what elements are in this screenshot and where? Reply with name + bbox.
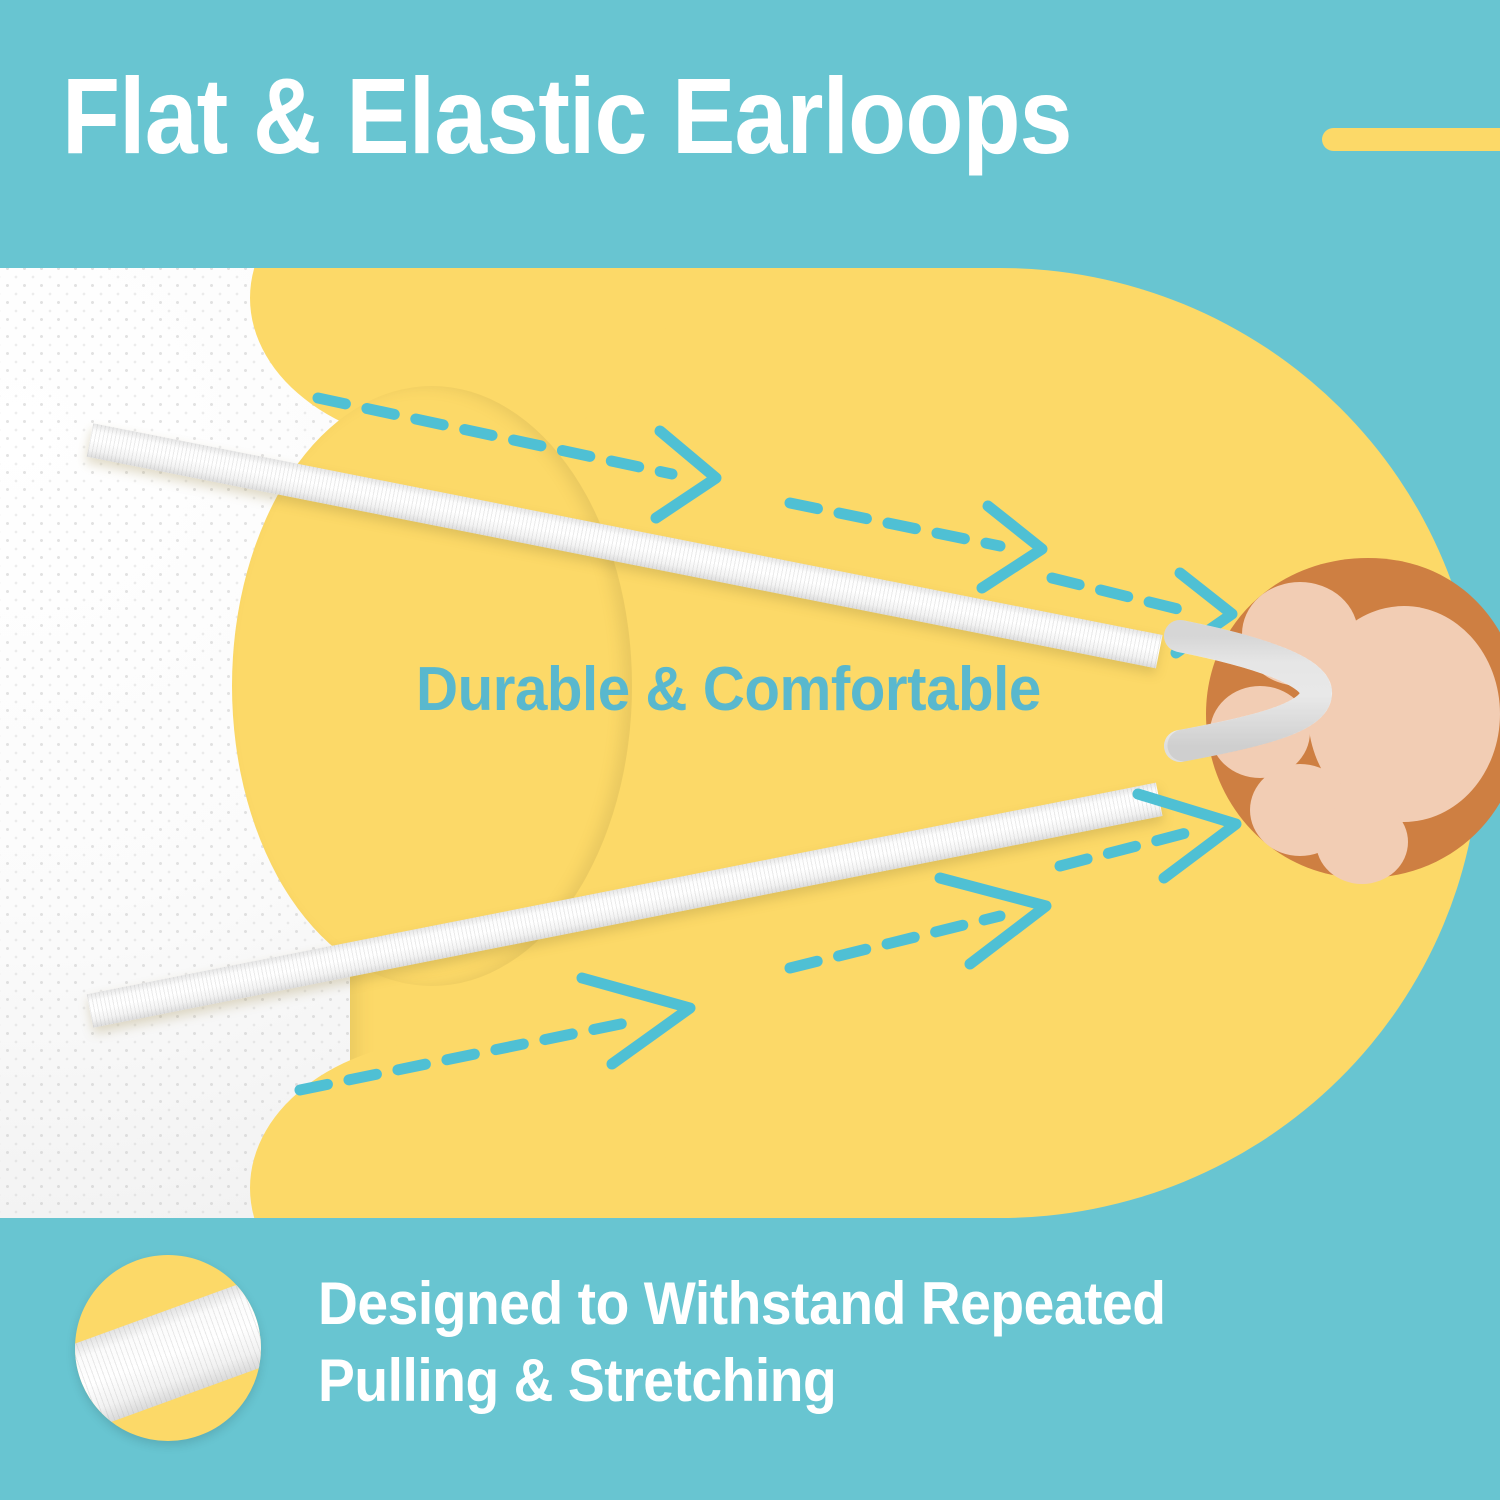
footer-caption: Designed to Withstand Repeated Pulling &… [318, 1266, 1358, 1420]
footer-caption-line-1: Designed to Withstand Repeated [318, 1270, 1166, 1337]
footer-banner: Designed to Withstand Repeated Pulling &… [0, 1218, 1500, 1500]
infographic-canvas: Durable & Comfortable Flat & Elastic Ear… [0, 0, 1500, 1500]
face-mask [0, 268, 560, 1218]
earloop-closeup-thumbnail [75, 1255, 261, 1441]
header-banner: Flat & Elastic Earloops [0, 0, 1500, 268]
main-illustration-stage: Durable & Comfortable [0, 268, 1500, 1218]
footer-caption-line-2: Pulling & Stretching [318, 1343, 1358, 1420]
earloop-closeup-strap [75, 1255, 261, 1441]
page-title: Flat & Elastic Earloops [62, 62, 1072, 170]
header-accent-rule [1322, 128, 1500, 151]
center-label: Durable & Comfortable [416, 654, 1041, 725]
earloop-tip-around-toe [1190, 628, 1380, 758]
strap-weave-texture [75, 1255, 261, 1441]
